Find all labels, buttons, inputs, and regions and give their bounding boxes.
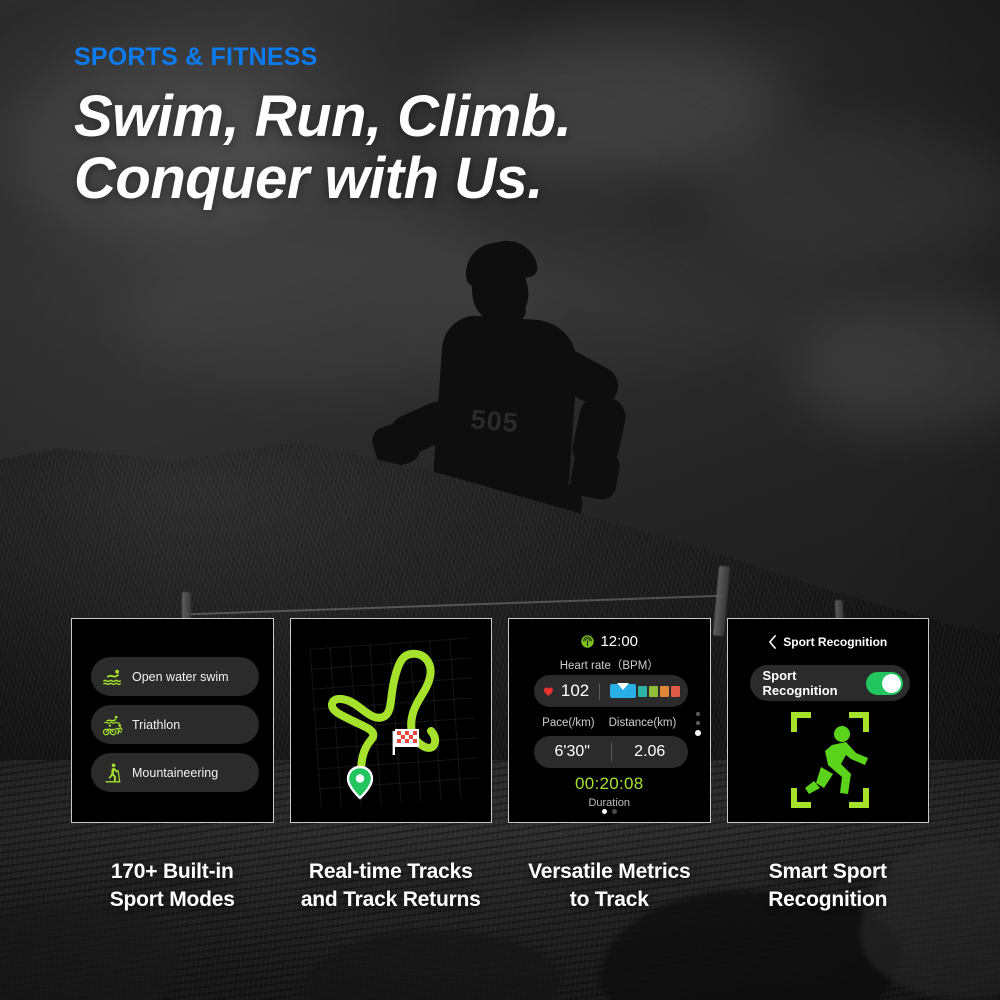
zone — [671, 686, 680, 697]
page-dot-active — [602, 809, 607, 814]
zone-current — [610, 684, 636, 698]
pace-label: Pace(/km) — [542, 717, 594, 729]
gps-map[interactable] — [291, 619, 492, 822]
gps-signal-icon — [580, 634, 595, 649]
card-sport-modes[interactable]: Open water swim Triathlon — [71, 618, 274, 823]
zone — [660, 686, 669, 697]
list-item-label: Open water swim — [132, 670, 229, 684]
list-item[interactable]: Open water swim — [91, 657, 259, 696]
divider — [599, 683, 600, 700]
eyebrow-label: SPORTS & FITNESS — [74, 44, 894, 72]
mountaineering-icon — [102, 762, 124, 784]
caption-real-time-track: Real-time Tracks and Track Returns — [290, 858, 493, 913]
triathlon-icon — [102, 714, 124, 736]
recognition-preview — [728, 709, 930, 823]
screen-title: Sport Recognition — [783, 635, 887, 649]
page-dot — [612, 809, 617, 814]
pace-value: 6'30" — [534, 743, 611, 761]
list-item[interactable]: Mountaineering — [91, 753, 259, 792]
caption-line-2: Recognition — [727, 886, 930, 914]
setting-label: Sport Recognition — [763, 668, 866, 698]
promo-banner: 505 SPORTS & FITNESS Swim, Run, Climb. C… — [0, 0, 1000, 1000]
sport-recognition-toggle[interactable] — [866, 672, 903, 695]
scroll-dot-active — [695, 730, 701, 736]
scroll-dot — [696, 712, 700, 716]
checkered-flag-icon — [392, 729, 418, 755]
caption-versatile-metrics: Versatile Metrics to Track — [508, 858, 711, 913]
feature-card-row: Open water swim Triathlon — [71, 618, 929, 823]
open-water-swim-icon — [102, 666, 124, 688]
pace-distance-labels: Pace(/km) Distance(km) — [509, 717, 710, 729]
heart-rate-value: 102 — [561, 681, 589, 701]
caption-line-1: Smart Sport — [727, 858, 930, 886]
clock-time: 12:00 — [600, 633, 638, 650]
caption-sport-modes: 170+ Built-in Sport Modes — [71, 858, 274, 913]
pace-distance-pill[interactable]: 6'30" 2.06 — [534, 736, 688, 768]
route-overlay — [291, 619, 493, 823]
heart-icon — [542, 683, 555, 699]
card-real-time-track[interactable] — [290, 618, 493, 823]
card-versatile-metrics[interactable]: 12:00 Heart rate（BPM） 102 — [508, 618, 711, 823]
distance-value: 2.06 — [612, 743, 689, 761]
race-bib-number: 505 — [468, 404, 561, 456]
running-person-icon — [805, 726, 868, 794]
heart-rate-label: Heart rate（BPM） — [509, 657, 710, 673]
page-indicator[interactable] — [509, 809, 710, 814]
card-sport-recognition[interactable]: Sport Recognition Sport Recognition — [727, 618, 930, 823]
heart-rate-zone-bar — [610, 684, 680, 698]
caption-row: 170+ Built-in Sport Modes Real-time Trac… — [71, 858, 929, 913]
title-line-2: Conquer with Us. — [74, 148, 894, 210]
screen-header[interactable]: Sport Recognition — [728, 635, 929, 649]
list-item-label: Triathlon — [132, 718, 180, 732]
title-line-1: Swim, Run, Climb. — [74, 86, 894, 148]
toggle-knob — [882, 674, 901, 693]
distance-label: Distance(km) — [609, 717, 677, 729]
sport-mode-list: Open water swim Triathlon — [91, 657, 259, 792]
heart-rate-pill[interactable]: 102 — [534, 675, 688, 707]
page-title: Swim, Run, Climb. Conquer with Us. — [74, 86, 894, 210]
location-pin-icon — [348, 767, 372, 798]
caption-line-1: 170+ Built-in — [71, 858, 274, 886]
headline-block: SPORTS & FITNESS Swim, Run, Climb. Conqu… — [74, 44, 894, 210]
zone — [649, 686, 658, 697]
caption-line-2: to Track — [508, 886, 711, 914]
chevron-left-icon[interactable] — [768, 635, 777, 649]
duration-value: 00:20:08 — [509, 774, 710, 794]
duration-label: Duration — [509, 797, 710, 809]
caption-line-2: and Track Returns — [290, 886, 493, 914]
list-item-label: Mountaineering — [132, 766, 218, 780]
list-item[interactable]: Triathlon — [91, 705, 259, 744]
route-path — [331, 654, 434, 782]
caption-line-1: Real-time Tracks — [290, 858, 493, 886]
status-row: 12:00 — [509, 633, 710, 650]
caption-line-2: Sport Modes — [71, 886, 274, 914]
sport-recognition-setting-row[interactable]: Sport Recognition — [750, 665, 910, 701]
zone — [638, 686, 647, 697]
caption-sport-recognition: Smart Sport Recognition — [727, 858, 930, 913]
caption-line-1: Versatile Metrics — [508, 858, 711, 886]
